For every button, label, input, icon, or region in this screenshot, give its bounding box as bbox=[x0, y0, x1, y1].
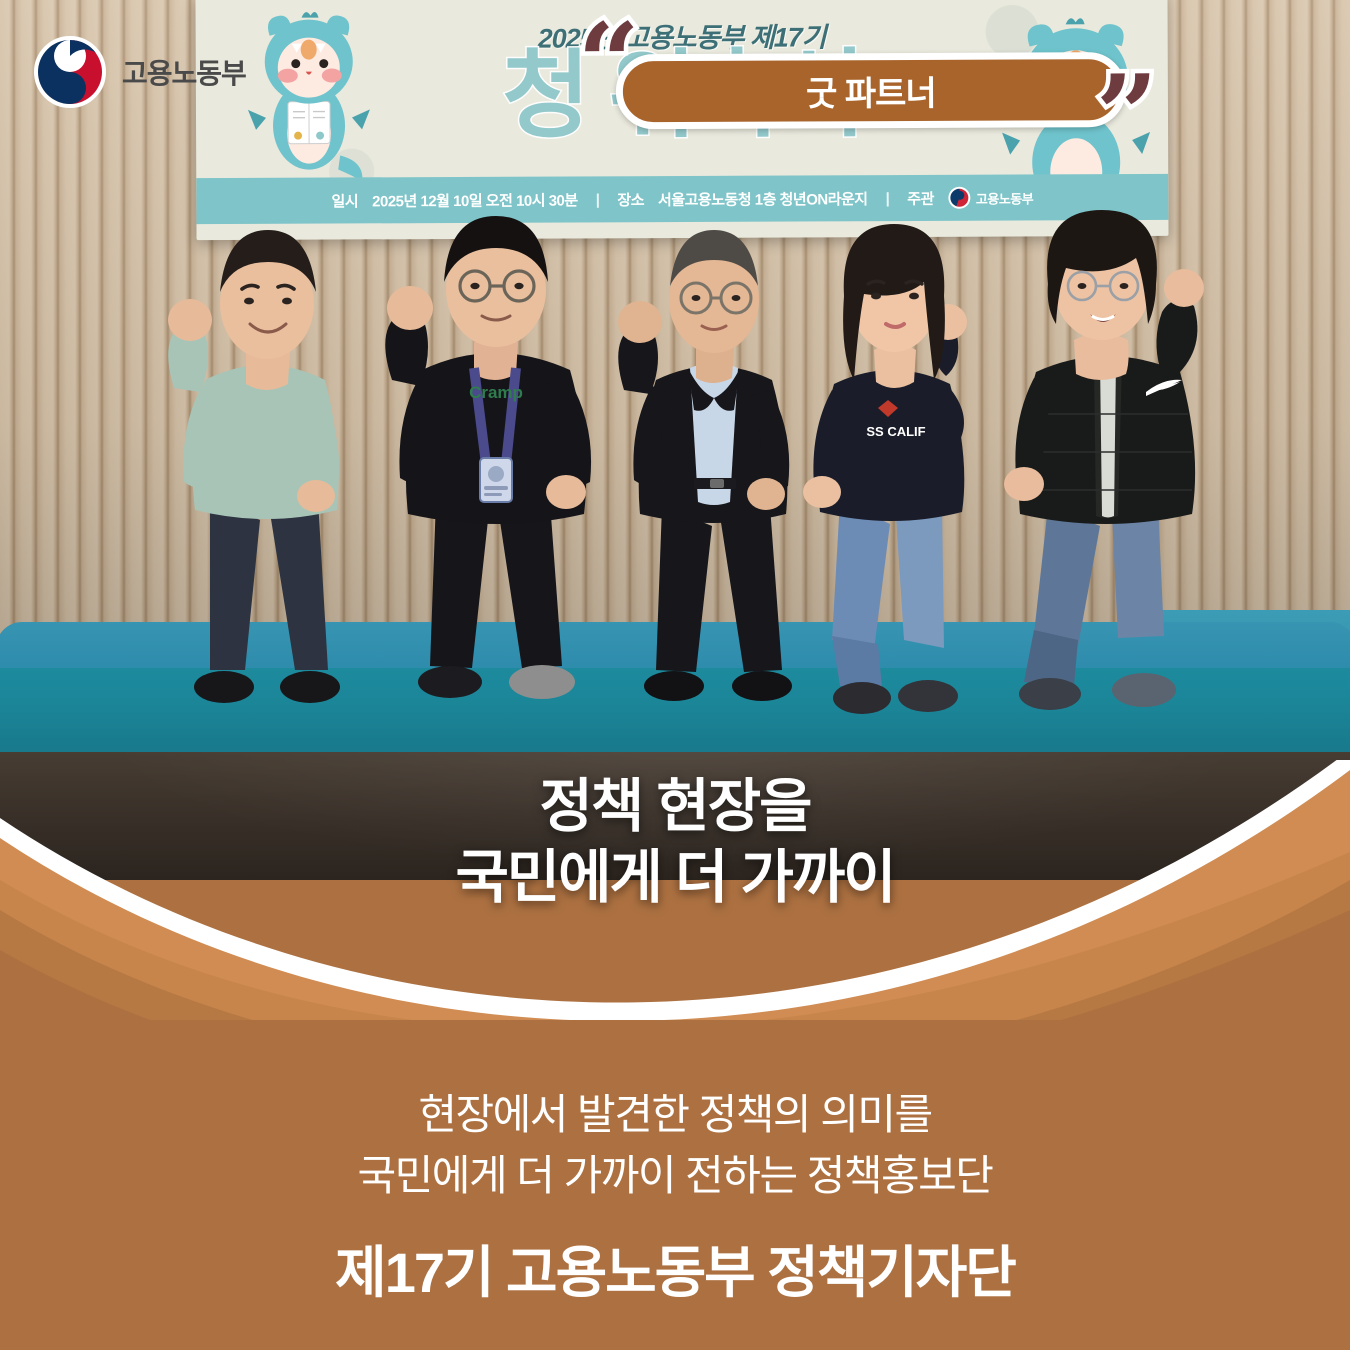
overlay-title: 정책 현장을 국민에게 더 가까이 bbox=[0, 772, 1350, 914]
photo-area: 2025년 고용노동부 제17기 청 위촉식 bbox=[0, 0, 1350, 880]
good-partner-badge: 굿 파트너 bbox=[616, 52, 1126, 129]
ministry-name: 고용노동부 bbox=[122, 52, 246, 92]
overlay-title-line-1: 정책 현장을 bbox=[0, 772, 1350, 843]
person-4: SS CALIF bbox=[778, 200, 1008, 760]
good-partner-badge-label: 굿 파트너 bbox=[806, 66, 936, 116]
svg-text:SS CALIF: SS CALIF bbox=[866, 424, 925, 439]
dino-mascot-with-certificate-icon bbox=[244, 5, 375, 192]
person-5 bbox=[978, 190, 1228, 760]
caption-line-1: 현장에서 발견한 정책의 의미를 bbox=[0, 1085, 1350, 1146]
quote-open-icon: “ bbox=[578, 30, 640, 97]
overlay-title-line-2: 국민에게 더 가까이 bbox=[0, 843, 1350, 914]
person-1 bbox=[150, 200, 380, 760]
person-2: Cramp bbox=[370, 190, 620, 760]
headline: 제17기 고용노동부 정책기자단 bbox=[0, 1228, 1350, 1309]
caption-block: 현장에서 발견한 정책의 의미를 국민에게 더 가까이 전하는 정책홍보단 bbox=[0, 1085, 1350, 1207]
caption-line-2: 국민에게 더 가까이 전하는 정책홍보단 bbox=[0, 1146, 1350, 1207]
ministry-logo-lockup: 고용노동부 bbox=[34, 36, 246, 108]
svg-text:Cramp: Cramp bbox=[469, 383, 523, 402]
korea-government-taeguk-icon bbox=[34, 36, 106, 108]
cardnews-poster: 2025년 고용노동부 제17기 청 위촉식 bbox=[0, 0, 1350, 1350]
quote-close-icon: ” bbox=[1096, 82, 1158, 149]
